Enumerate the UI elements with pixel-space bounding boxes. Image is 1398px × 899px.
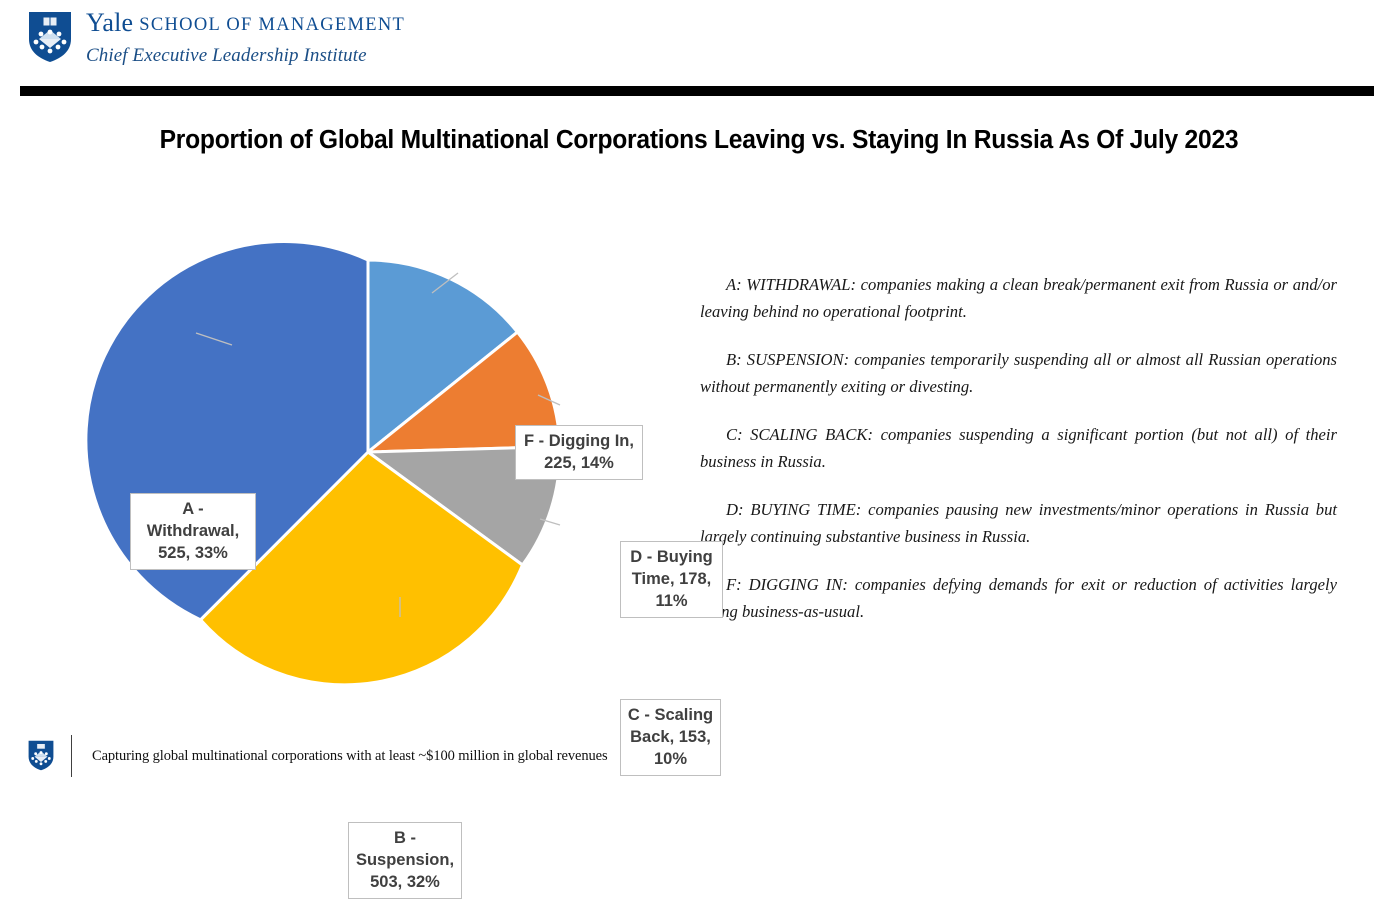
pie-label-b-suspension: B - Suspension, 503, 32% (348, 822, 462, 899)
definition-b-suspension: B: SUSPENSION: companies temporarily sus… (700, 347, 1337, 400)
definition-f-digging-in: F: DIGGING IN: companies defying demands… (700, 572, 1337, 625)
definition-d-buying-time: D: BUYING TIME: companies pausing new in… (700, 497, 1337, 550)
definitions-list: A: WITHDRAWAL: companies making a clean … (700, 272, 1337, 625)
footer-note: Capturing global multinational corporati… (92, 748, 608, 765)
school-of-management-text: School of Management (133, 15, 405, 35)
header-brand-lockup: YaleSchool of Management Chief Executive… (86, 8, 405, 67)
pie-label-c-scaling-back: C - Scaling Back, 153, 10% (620, 699, 721, 776)
pie-chart: F - Digging In, 225, 14% A - Withdrawal,… (60, 205, 680, 715)
definition-c-scaling-back: C: SCALING BACK: companies suspending a … (700, 422, 1337, 475)
pie-label-d-buying-time: D - Buying Time, 178, 11% (620, 541, 723, 618)
header-divider-bar (20, 86, 1374, 96)
yale-wordmark: Yale (86, 8, 133, 37)
institute-name: Chief Executive Leadership Institute (86, 45, 405, 67)
yale-shield-icon (28, 740, 54, 771)
slide-header: YaleSchool of Management Chief Executive… (0, 0, 1398, 80)
pie-slices (86, 241, 560, 684)
header-brand-line: YaleSchool of Management (86, 8, 405, 38)
yale-shield-icon (28, 11, 72, 63)
pie-label-a-withdrawal: A - Withdrawal, 525, 33% (130, 493, 256, 570)
pie-label-f-digging-in: F - Digging In, 225, 14% (515, 425, 643, 480)
definition-a-withdrawal: A: WITHDRAWAL: companies making a clean … (700, 272, 1337, 325)
slide-title: Proportion of Global Multinational Corpo… (24, 126, 1373, 155)
footer-divider (71, 735, 72, 777)
